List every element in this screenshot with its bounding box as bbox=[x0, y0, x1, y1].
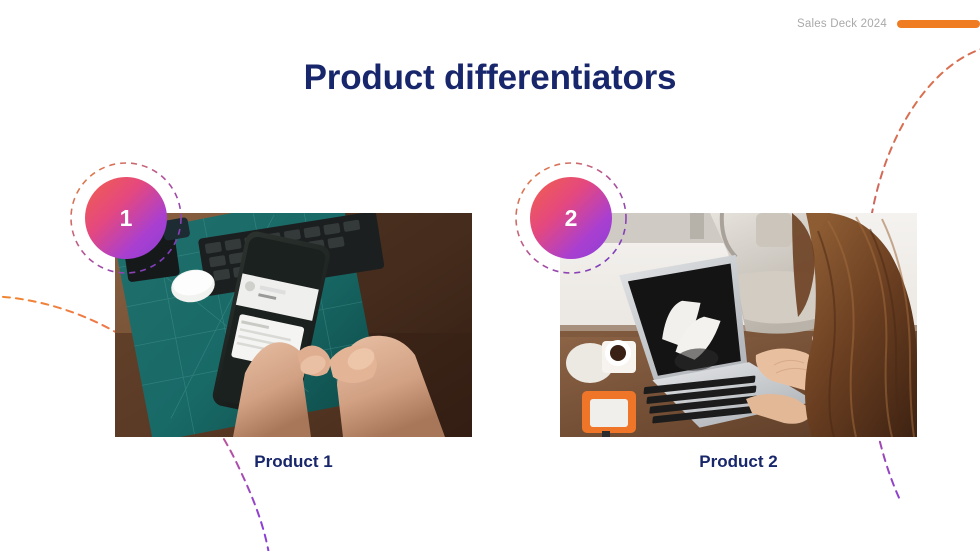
orange-accent-bar bbox=[897, 20, 980, 28]
badge-1: 1 bbox=[85, 177, 167, 259]
page-title: Product differentiators bbox=[0, 58, 980, 98]
badge-number-2: 2 bbox=[565, 207, 578, 230]
product-caption-1: Product 1 bbox=[115, 452, 472, 472]
badge-2: 2 bbox=[530, 177, 612, 259]
slide-header: Sales Deck 2024 bbox=[797, 18, 980, 30]
deck-label: Sales Deck 2024 bbox=[797, 18, 887, 30]
slide-root: Sales Deck 2024 Product differentiators bbox=[0, 0, 980, 551]
badge-number-1: 1 bbox=[120, 207, 133, 230]
product-caption-2: Product 2 bbox=[560, 452, 917, 472]
